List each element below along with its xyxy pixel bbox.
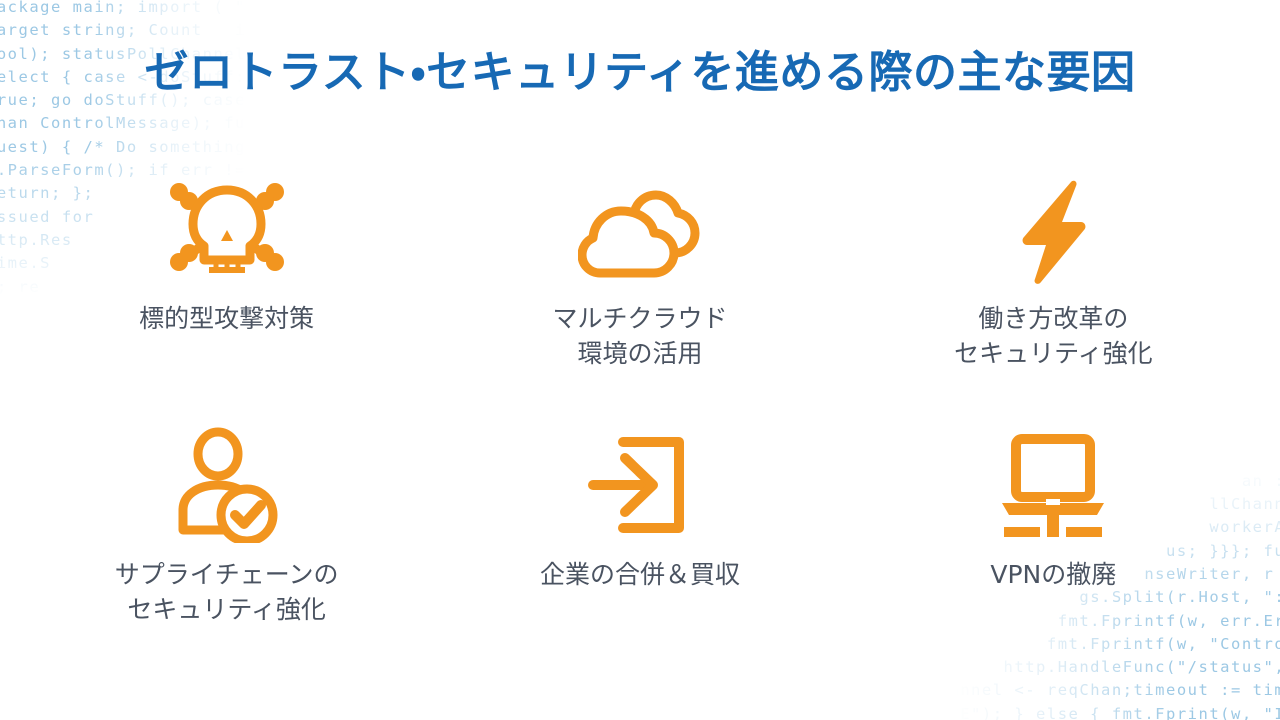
factor-label: 企業の合併＆買収 <box>540 558 740 593</box>
factor-item-supply-chain[interactable]: サプライチェーンの セキュリティ強化 <box>20 426 433 676</box>
factor-label: マルチクラウド 環境の活用 <box>552 302 727 371</box>
skull-crossbones-icon <box>163 176 291 288</box>
laptop-network-icon <box>994 426 1112 544</box>
multi-cloud-icon <box>578 176 702 288</box>
factor-label: 標的型攻撃対策 <box>139 302 314 337</box>
factor-item-merger-acquisition[interactable]: 企業の合併＆買収 <box>433 426 846 676</box>
presentation-slide: package main; import ( "fmt"; "net/http"… <box>0 0 1280 720</box>
verified-user-icon <box>175 426 279 544</box>
factor-grid: 標的型攻撃対策 マルチクラウド 環境の活用 働き方改革の セキュリティ強化 <box>20 176 1260 676</box>
lightning-bolt-icon <box>1014 176 1092 288</box>
factor-label: 働き方改革の セキュリティ強化 <box>954 302 1153 371</box>
factor-label: サプライチェーンの セキュリティ強化 <box>115 558 339 627</box>
factor-label: VPNの撤廃 <box>990 558 1116 593</box>
factor-item-vpn-abolition[interactable]: VPNの撤廃 <box>847 426 1260 676</box>
factor-item-multicloud[interactable]: マルチクラウド 環境の活用 <box>433 176 846 426</box>
slide-title: ゼロトラスト・セキュリティを進める際の主な要因 <box>0 36 1280 100</box>
factor-item-targeted-attack[interactable]: 標的型攻撃対策 <box>20 176 433 426</box>
factor-item-work-style-reform[interactable]: 働き方改革の セキュリティ強化 <box>847 176 1260 426</box>
arrow-into-bracket-icon <box>587 426 693 544</box>
